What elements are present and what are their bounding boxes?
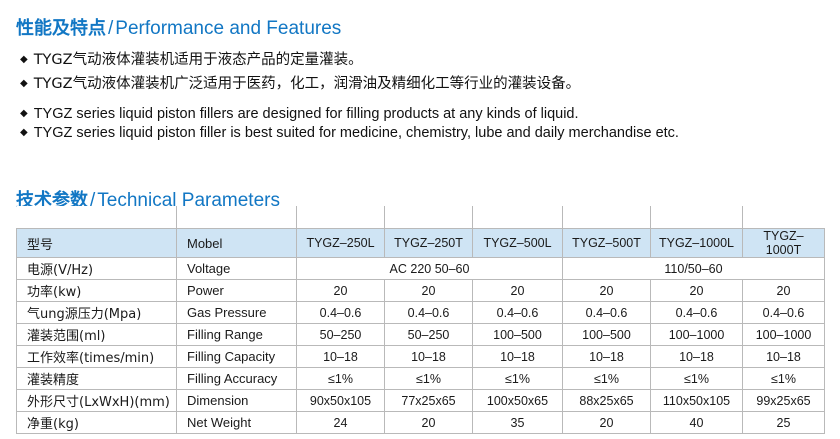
list-item: ◆ TYGZ series liquid piston fillers are … xyxy=(20,106,820,122)
table-cell: 40 xyxy=(651,412,743,434)
row-label-en: Voltage xyxy=(177,258,297,280)
table-row: 电源(V/Hz) Voltage AC 220 50–60 110/50–60 xyxy=(17,258,825,280)
list-item: ◆ TYGZ气动液体灌装机适用于液态产品的定量灌装。 xyxy=(20,48,820,69)
table-cell: 0.4–0.6 xyxy=(563,302,651,324)
table-cell: ≤1% xyxy=(563,368,651,390)
table-cell: 10–18 xyxy=(651,346,743,368)
table-cell: 100–1000 xyxy=(743,324,825,346)
column-header-tygz-250l: TYGZ–250L xyxy=(297,229,385,258)
table-cell: 90x50x105 xyxy=(297,390,385,412)
row-label-cn: 净重(kg) xyxy=(17,412,177,434)
spacer-cell xyxy=(563,206,651,229)
table-cell: 20 xyxy=(563,412,651,434)
row-label-cn: 气ung源压力(Mpa) xyxy=(17,302,177,324)
column-header-tygz-1000l: TYGZ–1000L xyxy=(651,229,743,258)
row-label-en: Filling Capacity xyxy=(177,346,297,368)
table-cell: ≤1% xyxy=(651,368,743,390)
column-header-model-cn: 型号 xyxy=(17,229,177,258)
features-section-title: 性能及特点/Performance and Features xyxy=(16,14,341,40)
list-item-label: TYGZ series liquid piston filler is best… xyxy=(34,125,679,141)
table-cell: 20 xyxy=(385,280,473,302)
cell-voltage-110: 110/50–60 xyxy=(563,258,825,280)
column-header-tygz-500l: TYGZ–500L xyxy=(473,229,563,258)
cell-voltage-ac220: AC 220 50–60 xyxy=(297,258,563,280)
row-label-cn: 灌装精度 xyxy=(17,368,177,390)
table-row: 净重(kg) Net Weight 24 20 35 20 40 25 xyxy=(17,412,825,434)
list-item-label: TYGZ气动液体灌装机适用于液态产品的定量灌装。 xyxy=(34,48,363,69)
column-header-tygz-1000t: TYGZ–1000T xyxy=(743,229,825,258)
spacer-cell xyxy=(17,206,177,229)
table-cell: 10–18 xyxy=(473,346,563,368)
table-cell: 50–250 xyxy=(297,324,385,346)
table-header-row: 型号 Mobel TYGZ–250L TYGZ–250T TYGZ–500L T… xyxy=(17,229,825,258)
table-cell: 100x50x65 xyxy=(473,390,563,412)
row-label-cn: 外形尺寸(LxWxH)(mm) xyxy=(17,390,177,412)
parameters-table: 型号 Mobel TYGZ–250L TYGZ–250T TYGZ–500L T… xyxy=(16,206,825,434)
table-cell: 35 xyxy=(473,412,563,434)
diamond-bullet-icon: ◆ xyxy=(20,128,28,138)
table-cell: 10–18 xyxy=(297,346,385,368)
row-label-en: Gas Pressure xyxy=(177,302,297,324)
table-row: 工作效率(times/min) Filling Capacity 10–18 1… xyxy=(17,346,825,368)
table-cell: 100–500 xyxy=(473,324,563,346)
table-row: 灌装精度 Filling Accuracy ≤1% ≤1% ≤1% ≤1% ≤1… xyxy=(17,368,825,390)
row-label-en: Net Weight xyxy=(177,412,297,434)
table-spacer-row xyxy=(17,206,825,229)
list-item-label: TYGZ气动液体灌装机广泛适用于医药，化工，润滑油及精细化工等行业的灌装设备。 xyxy=(34,72,580,93)
page-root: 性能及特点/Performance and Features ◆ TYGZ气动液… xyxy=(0,0,840,439)
table-cell: 10–18 xyxy=(563,346,651,368)
table-cell: 100–500 xyxy=(563,324,651,346)
spacer-cell xyxy=(651,206,743,229)
features-title-separator: / xyxy=(106,18,115,39)
row-label-cn: 工作效率(times/min) xyxy=(17,346,177,368)
table-cell: 100–1000 xyxy=(651,324,743,346)
parameters-table-wrapper: 型号 Mobel TYGZ–250L TYGZ–250T TYGZ–500L T… xyxy=(16,206,824,434)
table-cell: 0.4–0.6 xyxy=(385,302,473,324)
features-title-en: Performance and Features xyxy=(115,18,341,39)
table-cell: 0.4–0.6 xyxy=(297,302,385,324)
row-label-en: Filling Range xyxy=(177,324,297,346)
row-label-en: Dimension xyxy=(177,390,297,412)
table-cell: 24 xyxy=(297,412,385,434)
column-header-model-en: Mobel xyxy=(177,229,297,258)
row-label-cn: 电源(V/Hz) xyxy=(17,258,177,280)
table-cell: 0.4–0.6 xyxy=(473,302,563,324)
spacer-cell xyxy=(743,206,825,229)
spacer-cell xyxy=(385,206,473,229)
row-label-cn: 功率(kw) xyxy=(17,280,177,302)
table-row: 灌装范围(ml) Filling Range 50–250 50–250 100… xyxy=(17,324,825,346)
table-cell: 20 xyxy=(385,412,473,434)
features-title-cn: 性能及特点 xyxy=(16,18,106,39)
column-header-tygz-250t: TYGZ–250T xyxy=(385,229,473,258)
table-cell: 110x50x105 xyxy=(651,390,743,412)
table-cell: 25 xyxy=(743,412,825,434)
table-cell: 77x25x65 xyxy=(385,390,473,412)
table-cell: 50–250 xyxy=(385,324,473,346)
diamond-bullet-icon: ◆ xyxy=(20,55,28,65)
table-cell: 20 xyxy=(473,280,563,302)
features-bullet-list: ◆ TYGZ气动液体灌装机适用于液态产品的定量灌装。 ◆ TYGZ气动液体灌装机… xyxy=(20,48,820,144)
table-cell: 0.4–0.6 xyxy=(651,302,743,324)
row-label-cn: 灌装范围(ml) xyxy=(17,324,177,346)
spacer-cell xyxy=(177,206,297,229)
table-cell: ≤1% xyxy=(473,368,563,390)
table-cell: 99x25x65 xyxy=(743,390,825,412)
diamond-bullet-icon: ◆ xyxy=(20,79,28,89)
row-label-en: Filling Accuracy xyxy=(177,368,297,390)
table-cell: 0.4–0.6 xyxy=(743,302,825,324)
table-cell: ≤1% xyxy=(385,368,473,390)
list-item: ◆ TYGZ气动液体灌装机广泛适用于医药，化工，润滑油及精细化工等行业的灌装设备… xyxy=(20,72,820,93)
table-cell: ≤1% xyxy=(297,368,385,390)
table-row: 气ung源压力(Mpa) Gas Pressure 0.4–0.6 0.4–0.… xyxy=(17,302,825,324)
table-cell: ≤1% xyxy=(743,368,825,390)
spacer-cell xyxy=(473,206,563,229)
table-row: 外形尺寸(LxWxH)(mm) Dimension 90x50x105 77x2… xyxy=(17,390,825,412)
spacer-cell xyxy=(297,206,385,229)
column-header-tygz-500t: TYGZ–500T xyxy=(563,229,651,258)
table-row: 功率(kw) Power 20 20 20 20 20 20 xyxy=(17,280,825,302)
table-cell: 10–18 xyxy=(385,346,473,368)
diamond-bullet-icon: ◆ xyxy=(20,109,28,119)
table-cell: 20 xyxy=(297,280,385,302)
list-item-label: TYGZ series liquid piston fillers are de… xyxy=(34,106,579,122)
table-cell: 10–18 xyxy=(743,346,825,368)
table-cell: 88x25x65 xyxy=(563,390,651,412)
row-label-en: Power xyxy=(177,280,297,302)
list-item: ◆ TYGZ series liquid piston filler is be… xyxy=(20,125,820,141)
table-cell: 20 xyxy=(563,280,651,302)
table-cell: 20 xyxy=(651,280,743,302)
table-cell: 20 xyxy=(743,280,825,302)
